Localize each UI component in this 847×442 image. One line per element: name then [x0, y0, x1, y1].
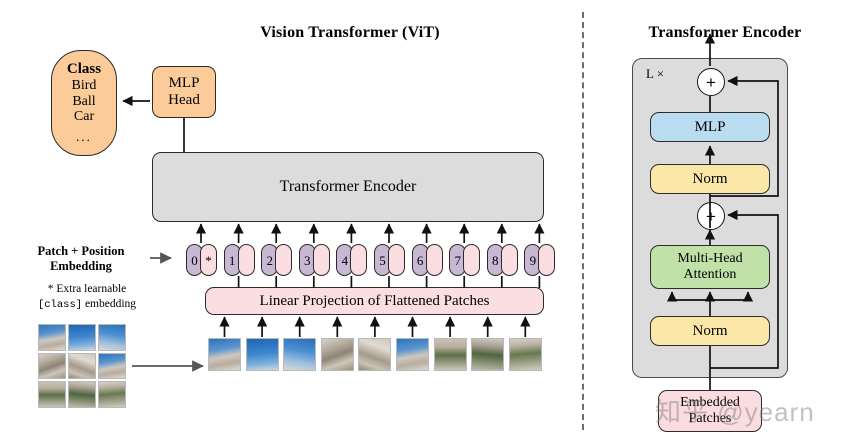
- patch-token-4[interactable]: 4: [336, 244, 367, 276]
- source-grid-cell: [98, 381, 126, 408]
- patch-token-1[interactable]: 1: [224, 244, 255, 276]
- extra-learnable-tail: embedding: [82, 298, 136, 310]
- image-patch: [246, 338, 279, 371]
- token-embedding-slot: [275, 244, 292, 276]
- mlp-head-line2: Head: [168, 92, 200, 109]
- patch-token-8[interactable]: 8: [487, 244, 518, 276]
- embedded-patches-box: Embedded Patches: [658, 390, 762, 432]
- token-embedding-slot: [313, 244, 330, 276]
- patch-position-line2: Embedding: [16, 259, 146, 274]
- token-embedding-slot: *: [200, 244, 217, 276]
- image-patch: [471, 338, 504, 371]
- token-embedding-slot: [238, 244, 255, 276]
- encoder-norm-top-box: Norm: [650, 164, 770, 194]
- panel-divider: [582, 12, 584, 430]
- image-patch: [283, 338, 316, 371]
- source-grid-cell: [38, 353, 66, 380]
- source-grid-cell: [98, 324, 126, 351]
- class-box-header: Class: [67, 61, 101, 78]
- class-token-mono: [class]: [38, 299, 82, 311]
- mlp-head-line1: MLP: [169, 75, 200, 92]
- encoder-mlp-label: MLP: [695, 119, 726, 136]
- source-grid-cell: [68, 353, 96, 380]
- source-grid-cell: [68, 324, 96, 351]
- image-patch: [509, 338, 542, 371]
- class-box-ellipsis: ...: [76, 130, 92, 145]
- residual-add-bottom-icon: +: [697, 202, 725, 230]
- source-grid-cell: [38, 381, 66, 408]
- class-item-bird: Bird: [72, 78, 97, 94]
- transformer-encoder-box: Transformer Encoder: [152, 152, 544, 222]
- image-patch: [358, 338, 391, 371]
- encoder-norm-bottom-label: Norm: [693, 323, 728, 340]
- repeat-count-label: L ×: [646, 66, 664, 82]
- mlp-head-box: MLP Head: [152, 66, 216, 118]
- mha-line2: Attention: [684, 267, 737, 283]
- source-image-grid: [38, 324, 126, 408]
- patch-token-5[interactable]: 5: [374, 244, 405, 276]
- patch-token-2[interactable]: 2: [261, 244, 292, 276]
- transformer-encoder-title: Transformer Encoder: [632, 24, 818, 42]
- transformer-encoder-label: Transformer Encoder: [280, 178, 417, 196]
- mha-line1: Multi-Head: [677, 251, 742, 267]
- patch-token-0[interactable]: 0*: [186, 244, 217, 276]
- source-grid-cell: [38, 324, 66, 351]
- class-item-ball: Ball: [72, 94, 95, 110]
- token-embedding-slot: [538, 244, 555, 276]
- patch-position-embedding-label: Patch + Position Embedding: [16, 244, 146, 275]
- image-patch: [434, 338, 467, 371]
- token-embedding-slot: [463, 244, 480, 276]
- token-embedding-slot: [501, 244, 518, 276]
- embedded-patches-line1: Embedded: [680, 395, 740, 411]
- patch-position-line1: Patch + Position: [16, 244, 146, 259]
- token-embedding-slot: [350, 244, 367, 276]
- vit-title: Vision Transformer (ViT): [135, 24, 565, 42]
- extra-learnable-line2: [class] embedding: [24, 297, 150, 313]
- patch-token-9[interactable]: 9: [524, 244, 555, 276]
- patch-token-6[interactable]: 6: [412, 244, 443, 276]
- linear-projection-box: Linear Projection of Flattened Patches: [205, 287, 544, 315]
- encoder-norm-top-label: Norm: [693, 171, 728, 188]
- encoder-mlp-box: MLP: [650, 112, 770, 142]
- class-item-car: Car: [74, 109, 94, 125]
- token-embedding-slot: [388, 244, 405, 276]
- patch-token-7[interactable]: 7: [449, 244, 480, 276]
- linear-projection-label: Linear Projection of Flattened Patches: [260, 293, 490, 310]
- image-patch: [396, 338, 429, 371]
- image-patch: [208, 338, 241, 371]
- multi-head-attention-box: Multi-Head Attention: [650, 245, 770, 289]
- source-grid-cell: [68, 381, 96, 408]
- extra-learnable-note: * Extra learnable [class] embedding: [24, 282, 150, 313]
- patch-token-3[interactable]: 3: [299, 244, 330, 276]
- class-output-box: Class Bird Ball Car ...: [51, 50, 117, 156]
- residual-add-top-icon: +: [697, 68, 725, 96]
- extra-learnable-line1: * Extra learnable: [24, 282, 150, 297]
- token-embedding-slot: [426, 244, 443, 276]
- image-patch: [321, 338, 354, 371]
- encoder-norm-bottom-box: Norm: [650, 316, 770, 346]
- embedded-patches-line2: Patches: [689, 411, 732, 427]
- source-grid-cell: [98, 353, 126, 380]
